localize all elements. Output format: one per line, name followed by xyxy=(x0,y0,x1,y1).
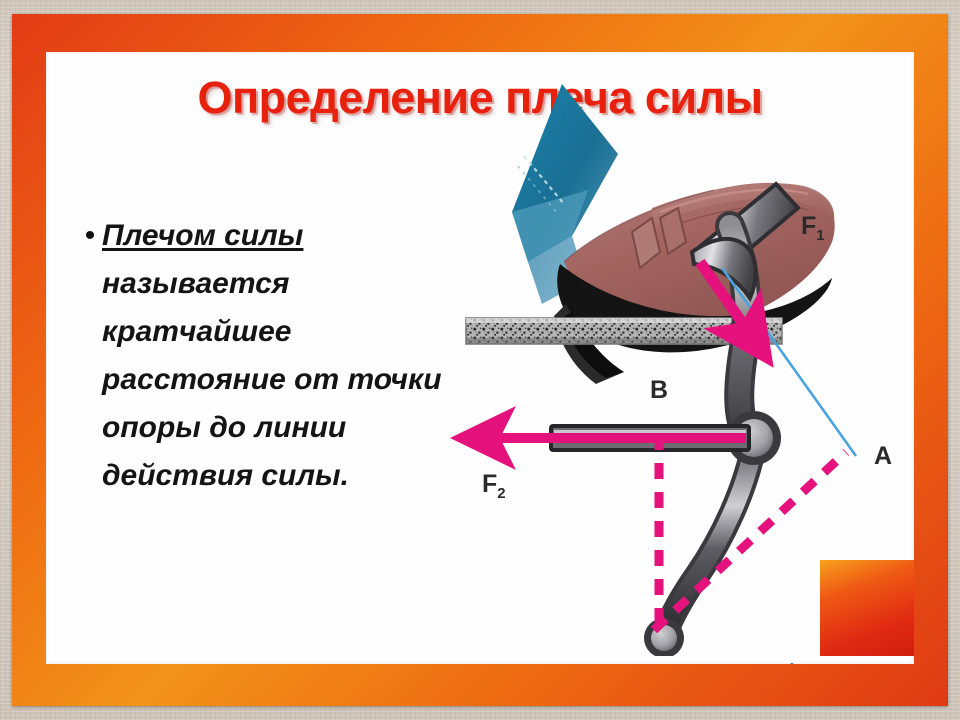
image-corner-block xyxy=(820,560,914,656)
slide-root: Определение плеча силы • Плечом силы наз… xyxy=(0,0,960,720)
point-label-a: A xyxy=(874,444,892,469)
list-item: • Плечом силы называется кратчайшее расс… xyxy=(78,212,448,500)
slide-border-frame: Определение плеча силы • Плечом силы наз… xyxy=(12,14,948,706)
lever-arm-figure: F1 F2 B A xyxy=(446,66,914,656)
body-text-block: • Плечом силы называется кратчайшее расс… xyxy=(78,212,448,500)
force-label-f1: F1 xyxy=(801,214,825,243)
arm-label-b: B xyxy=(650,378,668,403)
slide-canvas: Определение плеча силы • Плечом силы наз… xyxy=(46,52,914,664)
bullet-marker-icon: • xyxy=(78,212,102,260)
force-label-f2: F2 xyxy=(482,472,506,501)
definition-paragraph: Плечом силы называется кратчайшее рассто… xyxy=(102,212,448,500)
powerpoint-watermark: PowerPointNet.Ru xyxy=(686,658,878,664)
lead-term: Плечом силы xyxy=(102,219,303,252)
definition-rest: называется кратчайшее расстояние от точк… xyxy=(102,267,442,492)
powerpoint-watermark-green: Net.Ru xyxy=(817,663,878,664)
powerpoint-watermark-blue: PowerPoint xyxy=(686,658,817,664)
